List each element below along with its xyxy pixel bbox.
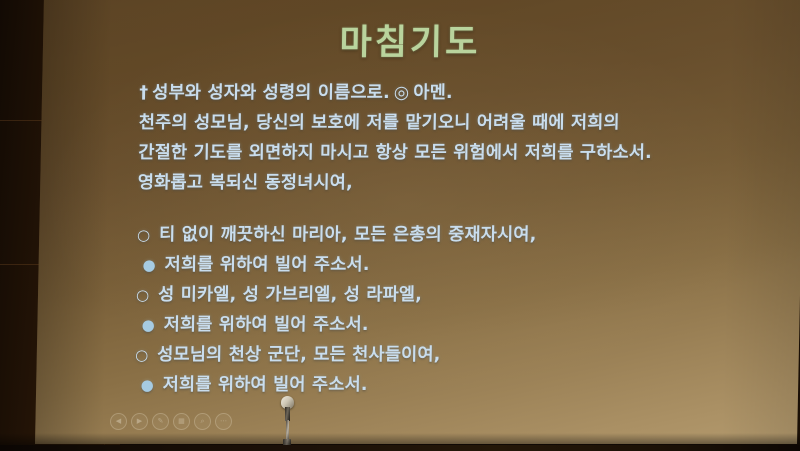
- next-slide-button[interactable]: ▶: [131, 413, 148, 430]
- list-item: ○ 성 미카엘, 성 가브리엘, 성 라파엘,: [136, 280, 776, 310]
- previous-slide-button[interactable]: ◀: [110, 413, 127, 430]
- hollow-circle-bullet-icon: ○: [136, 280, 158, 310]
- filled-circle-bullet-icon: ●: [141, 310, 163, 340]
- pen-icon: ✎: [158, 418, 164, 425]
- previous-slide-icon: ◀: [116, 418, 122, 425]
- zoom-icon: ⌕: [200, 418, 204, 425]
- list-item: ○ 티 없이 깨끗하신 마리아, 모든 은총의 중재자시여,: [137, 220, 777, 250]
- next-slide-icon: ▶: [137, 418, 143, 425]
- list-item: ● 저희를 위하여 빌어 주소서.: [134, 370, 774, 400]
- list-item-label: 저희를 위하여 빌어 주소서.: [163, 310, 369, 340]
- paragraph-line-4: 영화롭고 복되신 동정녀시여,: [138, 168, 778, 198]
- photo-of-projected-slide: 마침기도 †성부와 성자와 성령의 이름으로.◎아멘. 천주의 성모님, 당신의…: [0, 0, 800, 451]
- list-item: ○ 성모님의 천상 군단, 모든 천사들이여,: [135, 340, 775, 370]
- paragraph-text-before-response: 성부와 성자와 성령의 이름으로.: [152, 83, 390, 103]
- more-options-button[interactable]: ⋯: [215, 413, 232, 430]
- list-item: ● 저희를 위하여 빌어 주소서.: [135, 310, 775, 340]
- all-slides-icon: ▦: [178, 418, 185, 425]
- slide-body: †성부와 성자와 성령의 이름으로.◎아멘. 천주의 성모님, 당신의 보호에 …: [134, 78, 779, 400]
- microphone-neck: [285, 407, 290, 421]
- floor-strip: [0, 445, 800, 451]
- paragraph-text-after-response: 아멘.: [413, 83, 453, 103]
- slide-title: 마침기도: [10, 14, 800, 65]
- litany-list: ○ 티 없이 깨끗하신 마리아, 모든 은총의 중재자시여, ● 저희를 위하여…: [134, 220, 777, 400]
- paragraph-line-sign-of-the-cross: †성부와 성자와 성령의 이름으로.◎아멘.: [139, 78, 779, 108]
- list-item-label: 저희를 위하여 빌어 주소서.: [162, 370, 368, 400]
- pen-tool-button[interactable]: ✎: [152, 413, 169, 430]
- paragraph-line-3: 간절한 기도를 외면하지 마시고 항상 모든 위험에서 저희를 구하소서.: [138, 138, 778, 168]
- hollow-circle-bullet-icon: ○: [137, 220, 159, 250]
- filled-circle-bullet-icon: ●: [142, 250, 164, 280]
- presentation-control-bar: ◀ ▶ ✎ ▦ ⌕ ⋯: [110, 413, 232, 430]
- response-marker-icon: ◎: [394, 83, 410, 103]
- list-item-label: 성 미카엘, 성 가브리엘, 성 라파엘,: [158, 280, 422, 310]
- cross-icon: †: [139, 83, 148, 103]
- filled-circle-bullet-icon: ●: [140, 370, 162, 400]
- list-item-label: 티 없이 깨끗하신 마리아, 모든 은총의 중재자시여,: [159, 220, 537, 250]
- zoom-button[interactable]: ⌕: [194, 413, 211, 430]
- all-slides-button[interactable]: ▦: [173, 413, 190, 430]
- more-options-icon: ⋯: [220, 418, 227, 425]
- paragraph-line-2: 천주의 성모님, 당신의 보호에 저를 맡기오니 어려울 때에 저희의: [139, 108, 779, 138]
- hollow-circle-bullet-icon: ○: [135, 340, 157, 370]
- list-item-label: 저희를 위하여 빌어 주소서.: [164, 250, 370, 280]
- list-item-label: 성모님의 천상 군단, 모든 천사들이여,: [157, 340, 441, 370]
- list-item: ● 저희를 위하여 빌어 주소서.: [136, 250, 776, 280]
